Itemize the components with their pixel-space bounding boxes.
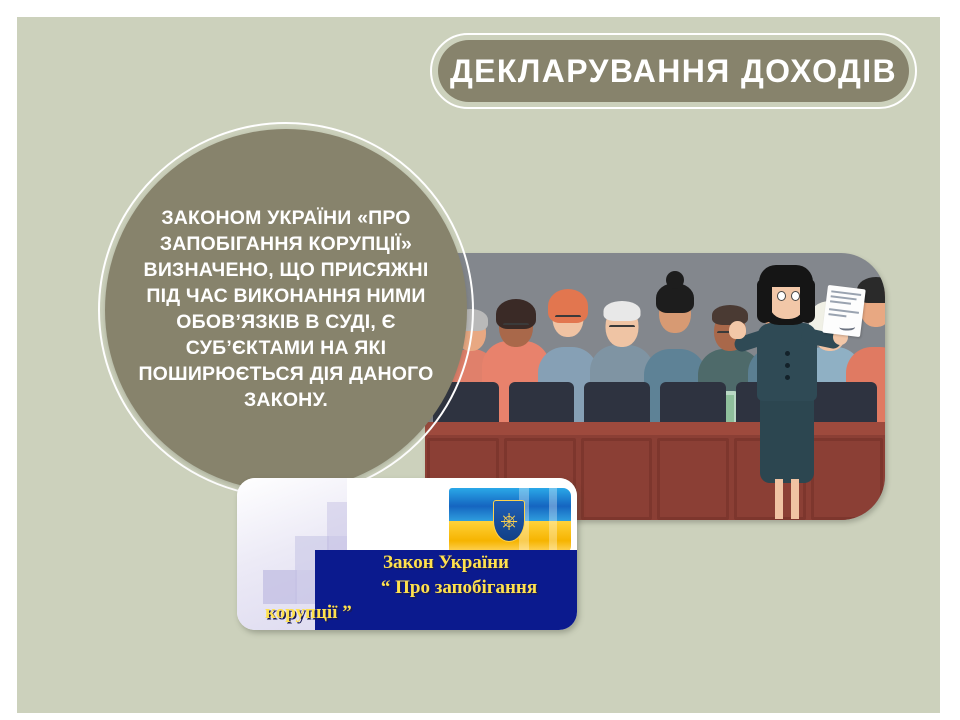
lawyer-eye-right: [791, 291, 800, 301]
chair: [509, 382, 575, 422]
chair: [584, 382, 650, 422]
jacket-button: [785, 351, 790, 356]
law-banner-image: ⎈ Закон України “ Про запобігання корупц…: [237, 478, 577, 630]
lawyer-hair-side-right: [800, 279, 815, 323]
banner-line-3: корупції ”: [265, 600, 575, 625]
lawyer-eye-left: [777, 291, 786, 301]
doc-line: [831, 295, 857, 300]
bench-panel: [657, 438, 729, 520]
lawyer-hair-side-left: [757, 279, 772, 323]
juror-hair-bun: [666, 271, 684, 289]
doc-line: [828, 313, 846, 317]
juror-glasses-icon: [609, 325, 635, 332]
banner-square: [263, 570, 297, 604]
banner-line-1: Закон України: [317, 550, 575, 575]
bench-panel: [581, 438, 653, 520]
jacket-button: [785, 363, 790, 368]
lawyer-left-leg: [775, 479, 783, 519]
doc-signature: [839, 321, 855, 330]
coat-of-arms-icon: ⎈: [493, 500, 525, 542]
juror-glasses-icon: [555, 315, 581, 322]
chair: [660, 382, 726, 422]
lawyer-right-leg: [791, 479, 799, 519]
declaration-document: [822, 285, 866, 337]
trident-glyph: ⎈: [500, 511, 518, 533]
lawyer-left-hand: [729, 321, 746, 339]
juror-glasses-icon: [503, 323, 529, 330]
lawyer-skirt: [760, 395, 814, 483]
page-title: ДЕКЛАРУВАННЯ ДОХОДІВ: [450, 53, 897, 90]
jacket-button: [785, 375, 790, 380]
title-pill: ДЕКЛАРУВАННЯ ДОХОДІВ: [438, 40, 909, 102]
text-callout: ЗАКОНОМ УКРАЇНИ «ПРО ЗАПОБІГАННЯ КОРУПЦІ…: [98, 122, 474, 498]
callout-text: ЗАКОНОМ УКРАЇНИ «ПРО ЗАПОБІГАННЯ КОРУПЦІ…: [136, 206, 436, 413]
banner-line-2: “ Про запобігання: [317, 575, 575, 600]
lawyer-figure: [729, 265, 847, 520]
callout-circle: ЗАКОНОМ УКРАЇНИ «ПРО ЗАПОБІГАННЯ КОРУПЦІ…: [105, 129, 467, 491]
slide: ДЕКЛАРУВАННЯ ДОХОДІВ: [0, 0, 960, 720]
juror-hair: [604, 301, 641, 321]
banner-law-title: Закон України “ Про запобігання корупції…: [317, 546, 575, 630]
doc-line: [830, 300, 851, 305]
slide-title: ДЕКЛАРУВАННЯ ДОХОДІВ: [430, 33, 917, 109]
flag-wave-highlight: [549, 488, 557, 554]
